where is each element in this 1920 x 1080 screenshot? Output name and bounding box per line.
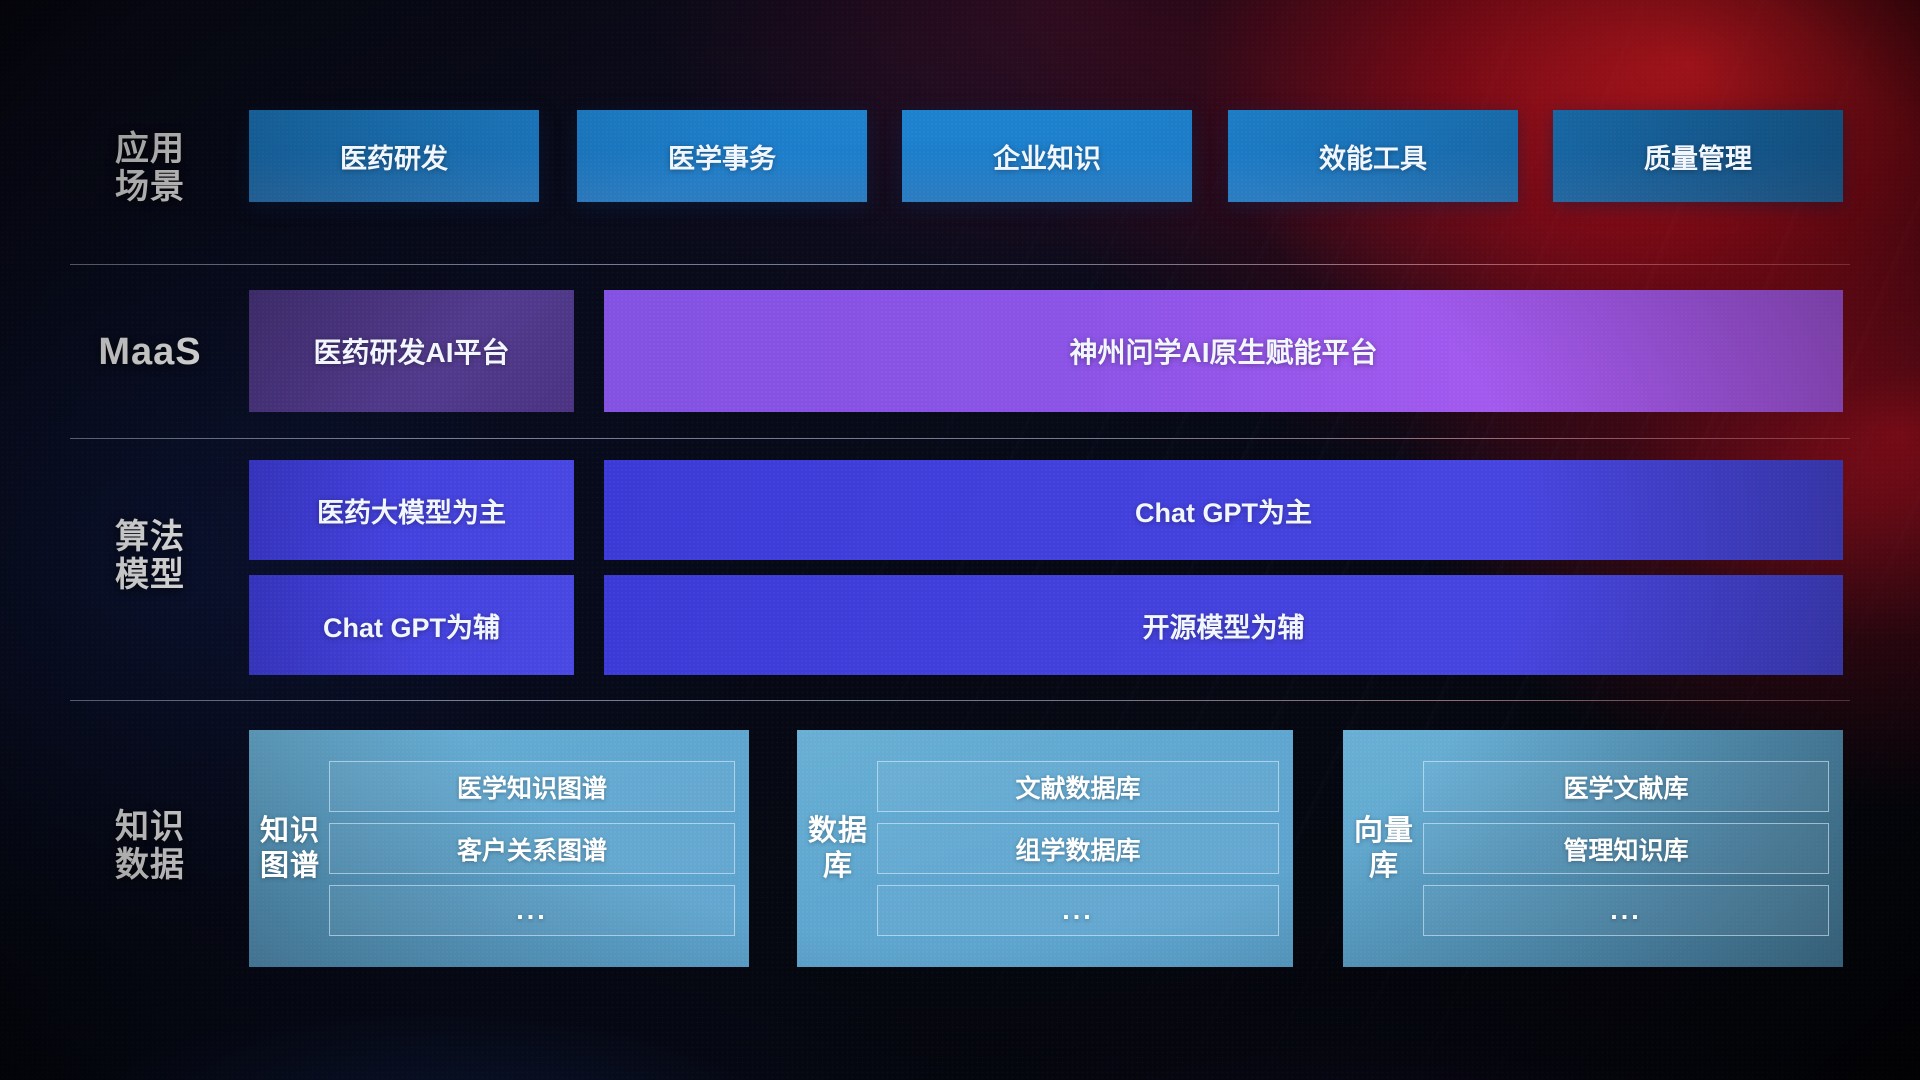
row-label-line-1: 知识	[70, 808, 230, 846]
app-scenario-box-3[interactable]: 企业知识	[902, 110, 1192, 202]
app-scenario-box-1[interactable]: 医药研发	[249, 110, 539, 202]
knowledge-panel-items-3: 医学文献库 管理知识库 ...	[1415, 761, 1829, 936]
knowledge-item-more[interactable]: ...	[1423, 885, 1829, 936]
app-scenario-label-1: 医药研发	[340, 137, 448, 176]
divider-3	[70, 700, 1850, 701]
diagram-canvas: 应用 场景 医药研发 医学事务 企业知识 效能工具 质量管理 MaaS	[0, 0, 1920, 1080]
maas-label-1: 医药研发AI平台	[313, 331, 509, 371]
app-scenario-box-4[interactable]: 效能工具	[1228, 110, 1518, 202]
app-scenario-label-4: 效能工具	[1319, 137, 1427, 176]
algo-box-chatgpt-primary[interactable]: Chat GPT为主	[604, 460, 1843, 560]
row-label-application-scenario: 应用 场景	[70, 130, 230, 206]
knowledge-panel-vector-store[interactable]: 向量库 医学文献库 管理知识库 ...	[1343, 730, 1843, 967]
maas-box-shenzhou-platform[interactable]: 神州问学AI原生赋能平台	[604, 290, 1843, 412]
knowledge-item[interactable]: 组学数据库	[877, 823, 1279, 874]
row-label-knowledge-data: 知识 数据	[70, 808, 230, 884]
app-scenario-label-2: 医学事务	[668, 137, 776, 176]
row-label-algorithm-model: 算法 模型	[70, 518, 230, 594]
knowledge-panel-items-1: 医学知识图谱 客户关系图谱 ...	[321, 761, 735, 936]
knowledge-panel-side-label-2: 数据库	[807, 814, 869, 882]
knowledge-item[interactable]: 医学知识图谱	[329, 761, 735, 812]
row-label-line-2: 场景	[70, 168, 230, 206]
algo-label-3: Chat GPT为辅	[323, 606, 500, 645]
app-scenario-box-2[interactable]: 医学事务	[577, 110, 867, 202]
app-scenario-label-3: 企业知识	[993, 137, 1101, 176]
knowledge-panel-side-label-3: 向量库	[1353, 814, 1415, 882]
app-scenario-label-5: 质量管理	[1644, 137, 1752, 176]
algo-label-2: Chat GPT为主	[1135, 491, 1312, 530]
algo-box-chatgpt-secondary[interactable]: Chat GPT为辅	[249, 575, 574, 675]
diagram-content: 应用 场景 医药研发 医学事务 企业知识 效能工具 质量管理 MaaS	[0, 0, 1920, 1080]
knowledge-item[interactable]: 文献数据库	[877, 761, 1279, 812]
divider-2	[70, 438, 1850, 439]
algo-label-4: 开源模型为辅	[1143, 606, 1305, 645]
algo-box-opensource-secondary[interactable]: 开源模型为辅	[604, 575, 1843, 675]
knowledge-panel-items-2: 文献数据库 组学数据库 ...	[869, 761, 1279, 936]
knowledge-item[interactable]: 医学文献库	[1423, 761, 1829, 812]
maas-box-pharma-ai-platform[interactable]: 医药研发AI平台	[249, 290, 574, 412]
knowledge-panel-side-label-1: 知识图谱	[259, 814, 321, 882]
maas-label-2: 神州问学AI原生赋能平台	[1069, 331, 1377, 371]
row-label-line-1: 应用	[70, 130, 230, 168]
row-label-maas-text: MaaS	[70, 331, 230, 374]
knowledge-item[interactable]: 管理知识库	[1423, 823, 1829, 874]
row-label-line-2: 模型	[70, 556, 230, 594]
knowledge-panel-knowledge-graph[interactable]: 知识图谱 医学知识图谱 客户关系图谱 ...	[249, 730, 749, 967]
knowledge-item[interactable]: 客户关系图谱	[329, 823, 735, 874]
divider-1	[70, 264, 1850, 265]
row-label-line-1: 算法	[70, 518, 230, 556]
row-label-maas: MaaS	[70, 331, 230, 374]
knowledge-item-more[interactable]: ...	[877, 885, 1279, 936]
knowledge-panel-database[interactable]: 数据库 文献数据库 组学数据库 ...	[797, 730, 1293, 967]
app-scenario-box-5[interactable]: 质量管理	[1553, 110, 1843, 202]
algo-label-1: 医药大模型为主	[317, 491, 506, 530]
knowledge-item-more[interactable]: ...	[329, 885, 735, 936]
algo-box-pharma-llm-primary[interactable]: 医药大模型为主	[249, 460, 574, 560]
row-label-line-2: 数据	[70, 846, 230, 884]
